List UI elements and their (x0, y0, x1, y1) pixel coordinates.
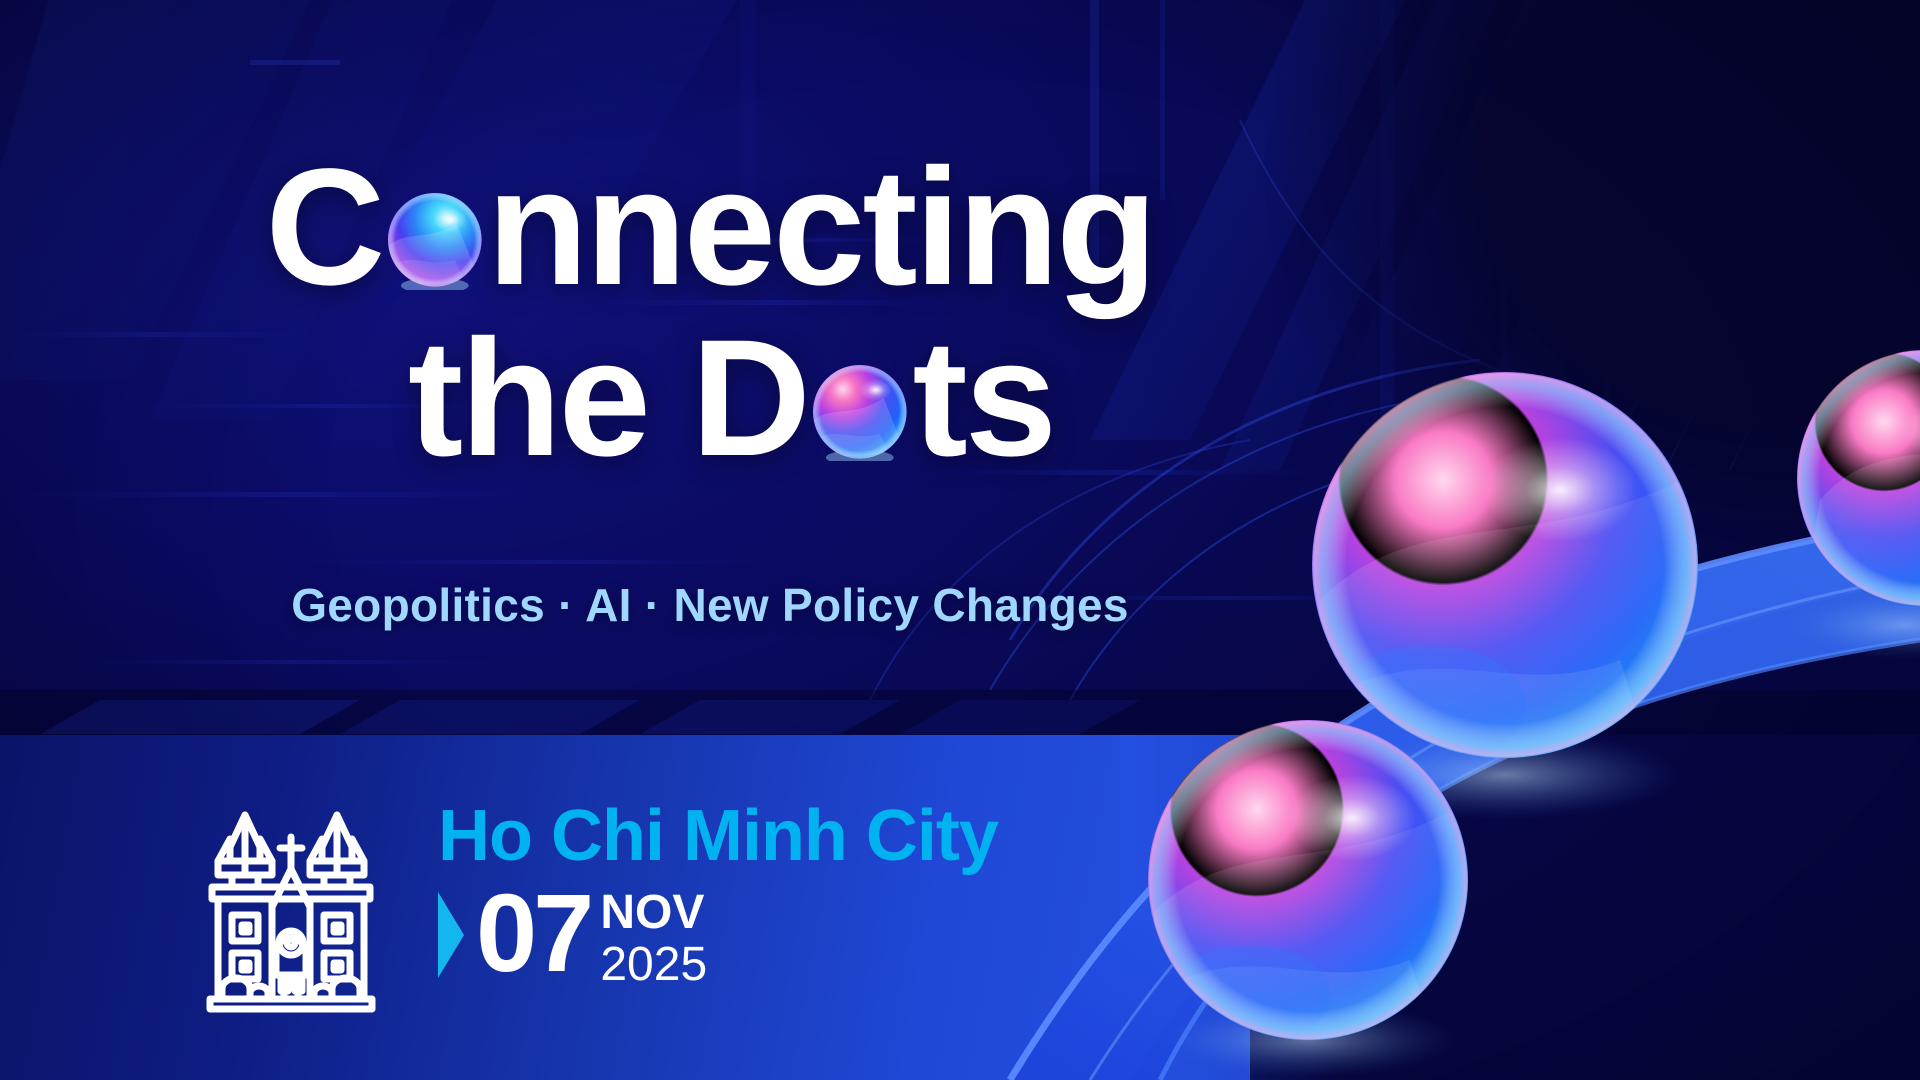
title-block: C (0, 148, 1420, 479)
footer-band-fade (1120, 735, 1340, 1080)
event-text-block: Ho Chi Minh City 07 NOV 2025 (438, 800, 998, 990)
title-line-2-prefix: the D (408, 306, 808, 491)
event-month: NOV (600, 890, 707, 936)
cathedral-icon (196, 803, 386, 1015)
gradient-sphere-icon-1 (385, 190, 485, 290)
event-month-year: NOV 2025 (600, 886, 707, 990)
event-date: 07 NOV 2025 (438, 886, 998, 990)
subtitle: Geopolitics · AI · New Policy Changes (0, 578, 1420, 632)
event-banner: C (0, 0, 1920, 1080)
title-line-1-suffix: nnecting (487, 135, 1155, 320)
event-day: 07 (476, 886, 590, 983)
title-line-2-suffix: ts (912, 306, 1054, 491)
event-info: Ho Chi Minh City 07 NOV 2025 (196, 800, 998, 1015)
triangle-right-icon (438, 892, 464, 978)
gradient-sphere-icon-2 (810, 362, 910, 462)
title-line-2: the D (0, 319, 1420, 478)
title-line-1: C (0, 148, 1420, 307)
city-name: Ho Chi Minh City (438, 800, 998, 872)
title-line-1-prefix: C (265, 135, 382, 320)
event-year: 2025 (600, 940, 707, 990)
